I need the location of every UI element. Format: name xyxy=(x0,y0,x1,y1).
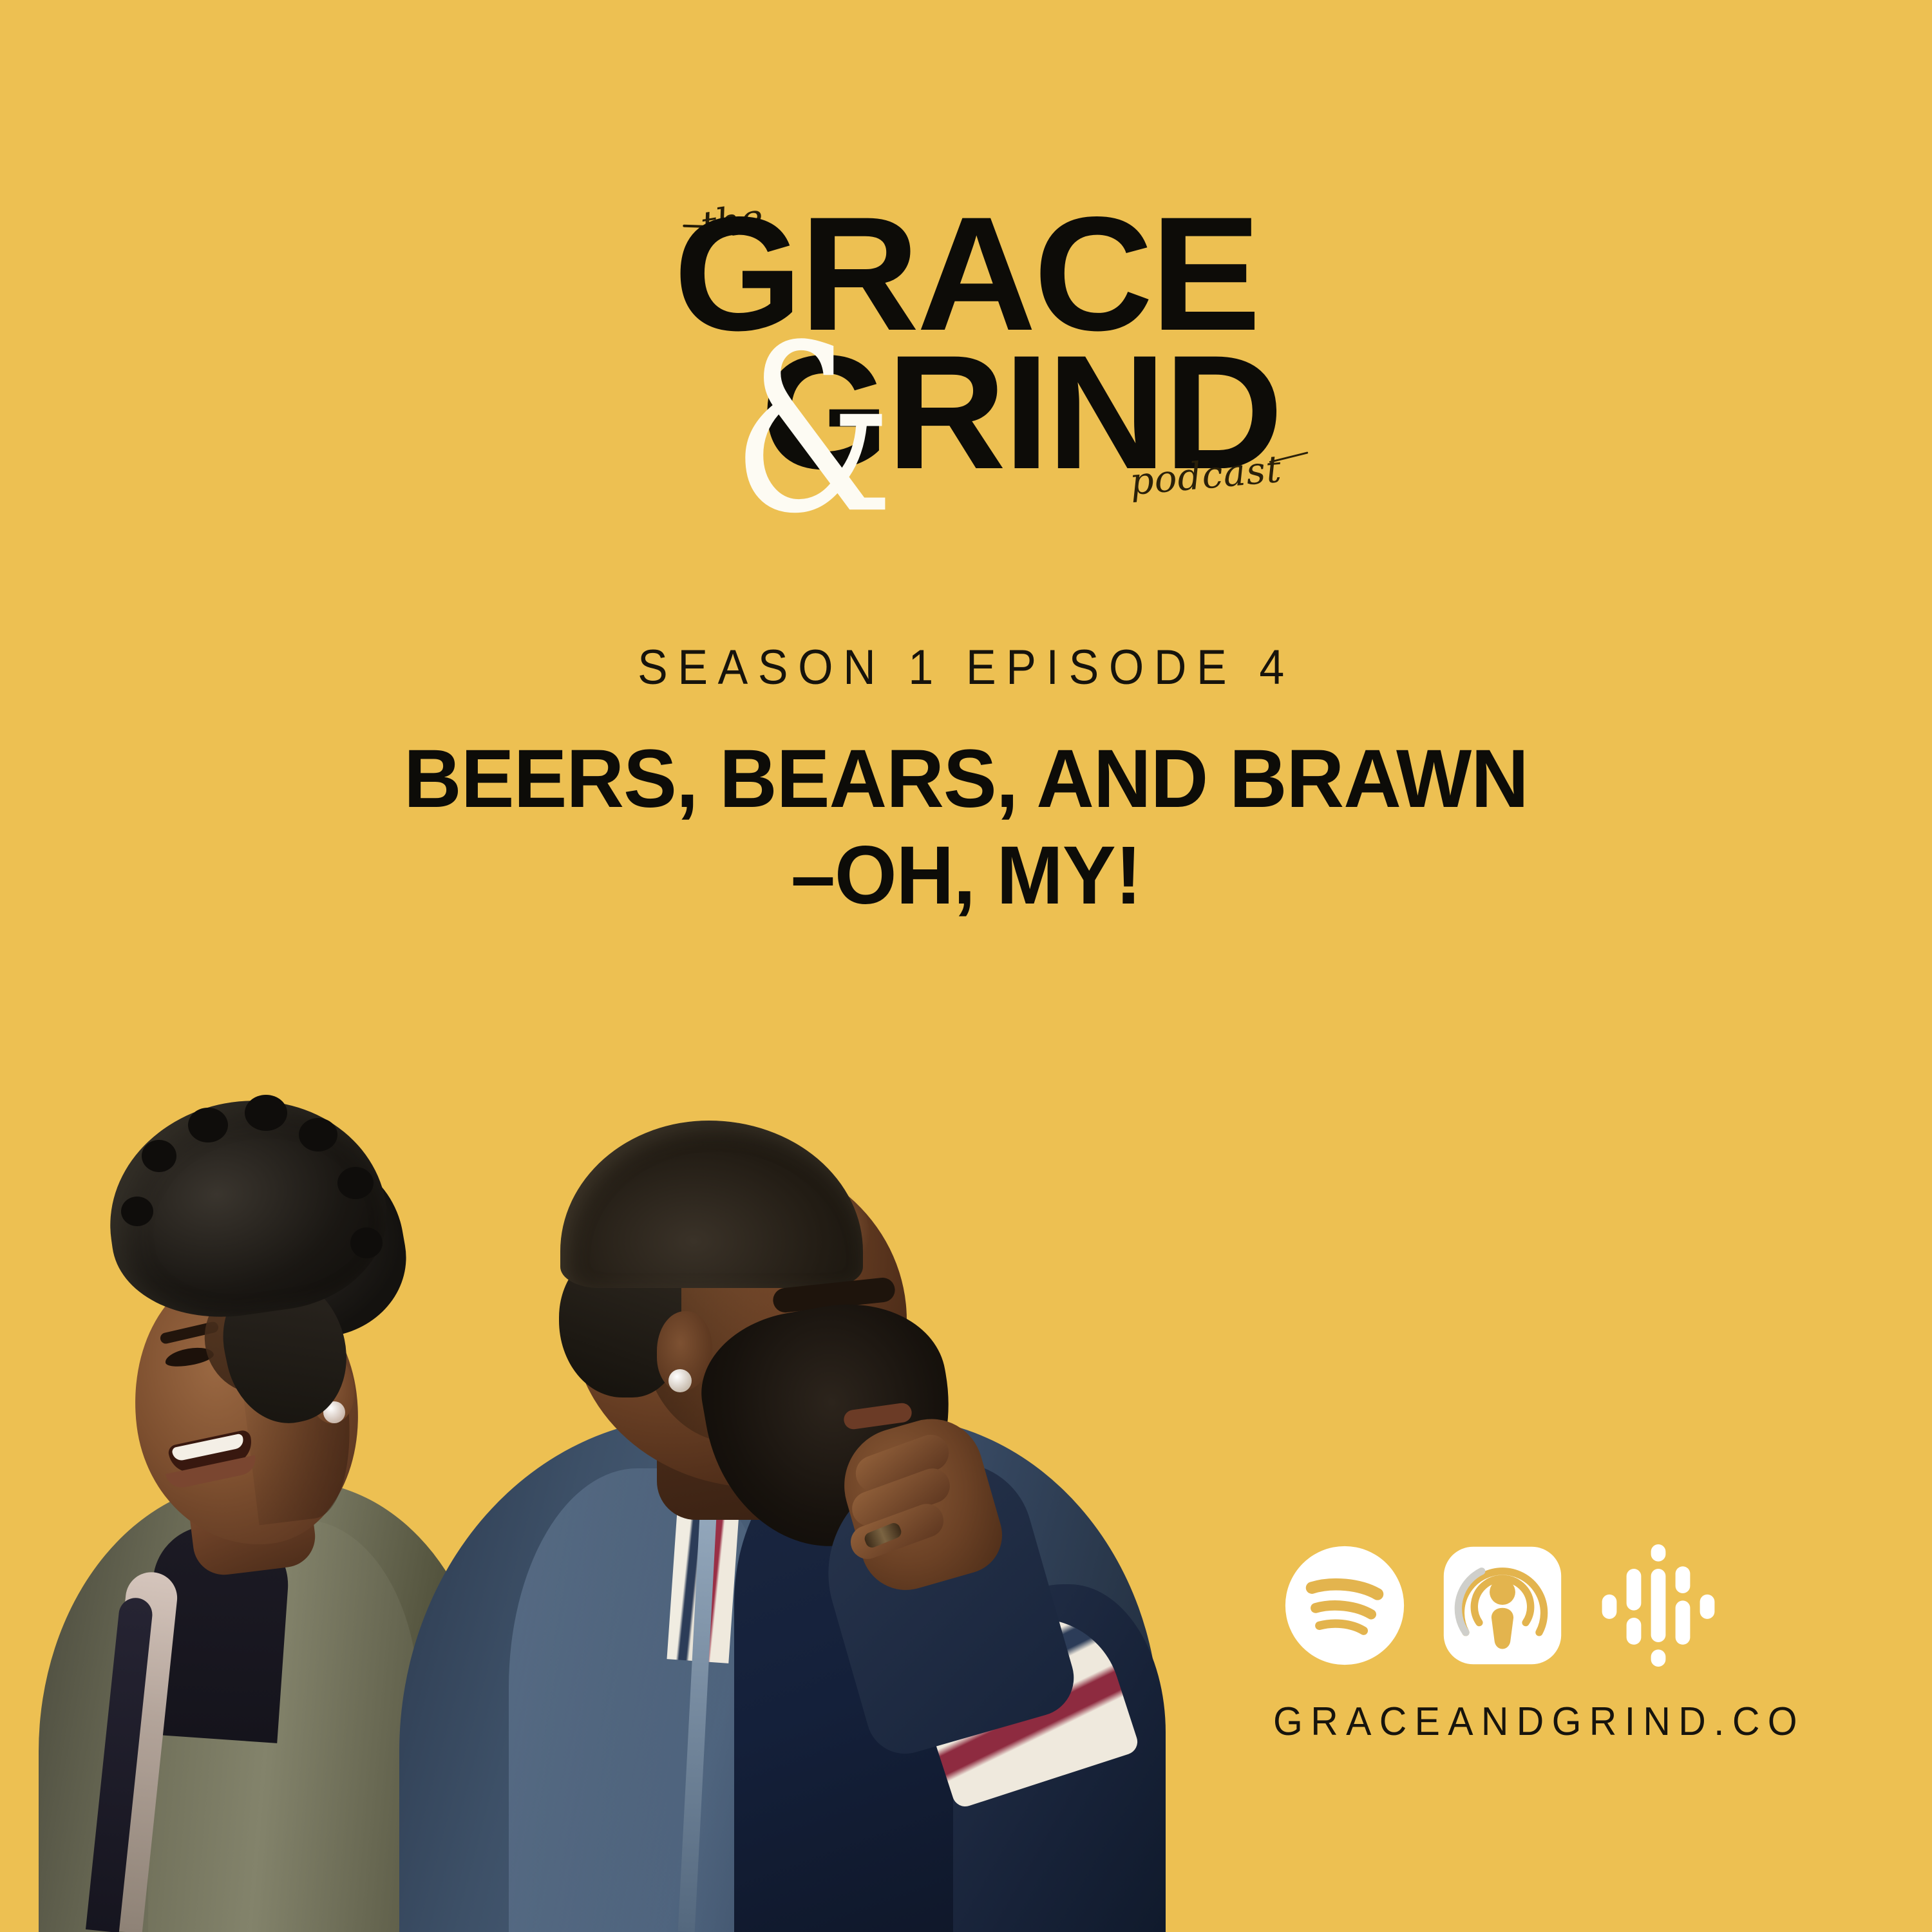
platform-icons xyxy=(1282,1542,1719,1669)
woman-hair-curl xyxy=(188,1108,228,1142)
hosts-photo xyxy=(0,1063,1288,1932)
man-hair xyxy=(560,1121,863,1288)
apple-podcasts-icon[interactable] xyxy=(1441,1544,1564,1667)
podcast-cover-artwork: the GRACE & GRIND podcast SEASON 1 EPISO… xyxy=(0,0,1932,1932)
google-podcasts-link[interactable] xyxy=(1597,1544,1719,1667)
logo-ampersand: & xyxy=(732,315,894,545)
season-episode-label: SEASON 1 EPISODE 4 xyxy=(77,639,1855,696)
google-podcasts-icon[interactable] xyxy=(1597,1544,1719,1667)
host-man-portrait xyxy=(399,1127,1301,1932)
woman-hair-curl xyxy=(121,1197,153,1226)
woman-hair-curl xyxy=(299,1118,337,1151)
spotify-link[interactable] xyxy=(1282,1542,1408,1669)
woman-hair-curl xyxy=(142,1140,176,1172)
woman-hair-curl xyxy=(245,1095,287,1131)
episode-title-line-2: –OH, MY! xyxy=(29,828,1903,924)
episode-title: BEERS, BEARS, AND BRAWN –OH, MY! xyxy=(29,731,1903,924)
spotify-icon[interactable] xyxy=(1282,1542,1408,1669)
episode-title-line-1: BEERS, BEARS, AND BRAWN xyxy=(29,731,1903,828)
website-url[interactable]: GRACEANDGRIND.CO xyxy=(1258,1699,1821,1745)
woman-hair-curl xyxy=(350,1227,383,1258)
man-earring xyxy=(668,1369,692,1392)
apple-podcasts-link[interactable] xyxy=(1441,1544,1564,1667)
woman-hair-curl xyxy=(337,1167,374,1199)
podcast-logo: the GRACE & GRIND podcast xyxy=(0,193,1932,554)
